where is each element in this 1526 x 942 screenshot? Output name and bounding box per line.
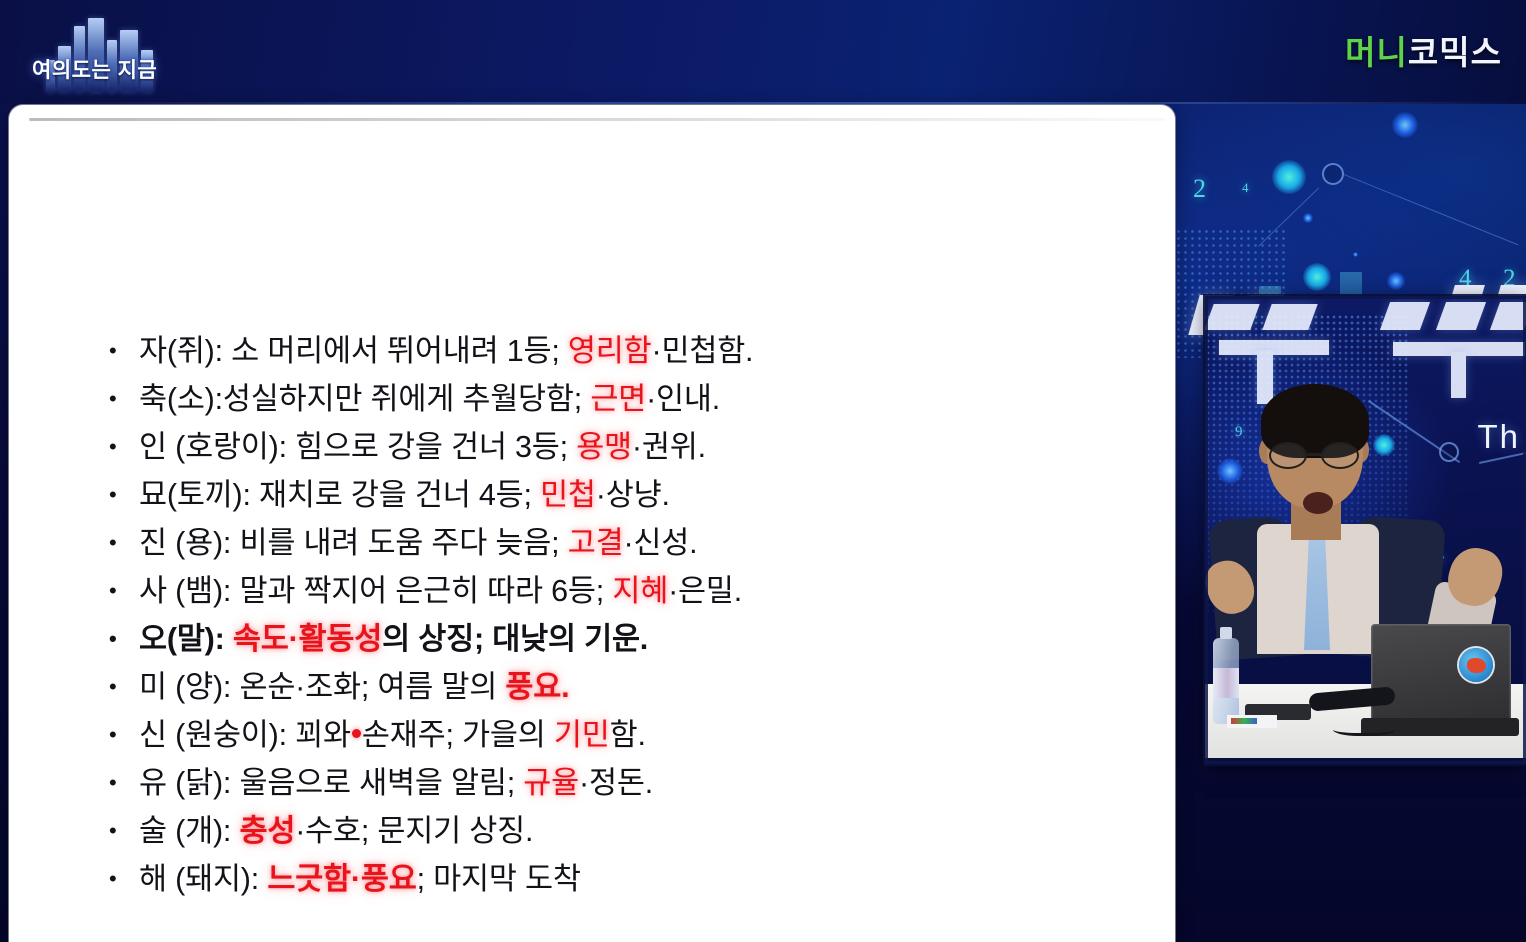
- bullet-marker: •: [109, 711, 139, 759]
- red-dot-icon: [352, 729, 361, 738]
- bullet-marker: •: [109, 519, 139, 567]
- text-run: ·신성.: [623, 526, 697, 560]
- bullet-text: 축(소):성실하지만 쥐에게 추월당함; 근면·인내.: [139, 375, 720, 423]
- highlighted-term: 기민: [554, 718, 610, 752]
- backdrop-glow-dot-icon: [1217, 458, 1243, 484]
- header-bar: [0, 0, 1526, 104]
- bullet-text: 오(말): 속도·활동성의 상징; 대낮의 기운.: [139, 615, 648, 663]
- highlighted-term: 지혜: [612, 574, 668, 608]
- text-run: 의 상징; 대낮의 기운.: [382, 622, 648, 656]
- bullet-text: 유 (닭): 울음으로 새벽을 알림; 규율·정돈.: [139, 759, 653, 807]
- bullet-text: 해 (돼지): 느긋함·풍요; 마지막 도착: [139, 855, 581, 903]
- text-run: ·정돈.: [579, 766, 653, 800]
- text-run: ·민첩함.: [652, 334, 754, 368]
- highlighted-term: 느긋함·풍요: [267, 862, 416, 896]
- bullet-marker: •: [109, 807, 139, 855]
- slide-top-divider: [29, 118, 1165, 121]
- text-run: 인 (호랑이): 힘으로 강을 건너 3등;: [139, 430, 576, 464]
- highlighted-term: 영리함: [568, 334, 652, 368]
- highlighted-term: 충성: [239, 814, 295, 848]
- mouth: [1303, 492, 1333, 514]
- line-in-tiger: •인 (호랑이): 힘으로 강을 건너 3등; 용맹·권위.: [109, 423, 1145, 471]
- line-sul-dog: •술 (개): 충성·수호; 문지기 상징.: [109, 807, 1145, 855]
- backdrop-node-ring-icon: [1439, 442, 1459, 462]
- channel-logo-green: 머니: [1345, 34, 1408, 71]
- line-sa-snake: •사 (뱀): 말과 짝지어 은근히 따라 6등; 지혜·은밀.: [109, 567, 1145, 615]
- text-run: 묘(토끼): 재치로 강을 건너 4등;: [139, 478, 540, 512]
- text-run: ·인내.: [646, 382, 720, 416]
- bullet-text: 인 (호랑이): 힘으로 강을 건너 3등; 용맹·권위.: [139, 423, 706, 471]
- text-run: ; 마지막 도착: [417, 862, 581, 896]
- bullet-text: 사 (뱀): 말과 짝지어 은근히 따라 6등; 지혜·은밀.: [139, 567, 742, 615]
- cable: [1333, 720, 1395, 736]
- program-logo: 여의도는 지금: [28, 14, 178, 98]
- bullet-text: 진 (용): 비를 내려 도움 주다 늦음; 고결·신성.: [139, 519, 697, 567]
- text-run: ·권위.: [632, 430, 706, 464]
- line-o-horse: •오(말): 속도·활동성의 상징; 대낮의 기운.: [109, 615, 1145, 663]
- highlighted-term: 근면: [590, 382, 646, 416]
- bullet-marker: •: [109, 615, 139, 663]
- text-run: 술 (개):: [139, 814, 239, 848]
- bullet-marker: •: [109, 423, 139, 471]
- text-run: 신 (원숭이): 꾀와: [139, 718, 351, 752]
- backdrop-korean-title: [1205, 296, 1526, 416]
- text-run: ·상냥.: [596, 478, 670, 512]
- text-run: 진 (용): 비를 내려 도움 주다 늦음;: [139, 526, 568, 560]
- text-run: 함.: [610, 718, 646, 752]
- line-hae-pig: •해 (돼지): 느긋함·풍요; 마지막 도착: [109, 855, 1145, 903]
- line-ja-rat: •자(쥐): 소 머리에서 뛰어내려 1등; 영리함·민첩함.: [109, 327, 1145, 375]
- highlighted-term: 속도·활동성: [233, 622, 382, 656]
- eyeglasses-icon: [1269, 442, 1363, 469]
- bullet-text: 자(쥐): 소 머리에서 뛰어내려 1등; 영리함·민첩함.: [139, 327, 753, 375]
- slide-bullet-list: •자(쥐): 소 머리에서 뛰어내려 1등; 영리함·민첩함.•축(소):성실하…: [109, 327, 1145, 903]
- bullet-marker: •: [109, 759, 139, 807]
- backdrop-th-text: Th: [1477, 418, 1520, 456]
- text-run: 축(소):성실하지만 쥐에게 추월당함;: [139, 382, 590, 416]
- text-run: 유 (닭): 울음으로 새벽을 알림;: [139, 766, 523, 800]
- highlighted-term: 풍요.: [505, 670, 569, 704]
- text-run: 사 (뱀): 말과 짝지어 은근히 따라 6등;: [139, 574, 612, 608]
- backdrop-glow-dot-icon: [1373, 434, 1395, 456]
- backdrop-number: 9: [1235, 424, 1243, 441]
- text-run: ·은밀.: [668, 574, 742, 608]
- bullet-marker: •: [109, 471, 139, 519]
- bullet-text: 미 (양): 온순·조화; 여름 말의 풍요.: [139, 663, 569, 711]
- line-myo-rabbit: •묘(토끼): 재치로 강을 건너 4등; 민첩·상냥.: [109, 471, 1145, 519]
- line-mi-sheep: •미 (양): 온순·조화; 여름 말의 풍요.: [109, 663, 1145, 711]
- channel-logo-white: 코믹스: [1408, 34, 1502, 71]
- bullet-marker: •: [109, 567, 139, 615]
- laptop-sticker-icon: [1459, 648, 1493, 682]
- text-run: 손재주; 가을의: [362, 718, 554, 752]
- bullet-text: 술 (개): 충성·수호; 문지기 상징.: [139, 807, 533, 855]
- line-chuk-ox: •축(소):성실하지만 쥐에게 추월당함; 근면·인내.: [109, 375, 1145, 423]
- text-run: 자(쥐): 소 머리에서 뛰어내려 1등;: [139, 334, 568, 368]
- bottle-label: [1213, 668, 1239, 698]
- channel-logo: 머니코믹스: [1345, 26, 1502, 74]
- text-run: ·수호; 문지기 상징.: [295, 814, 533, 848]
- text-run: 해 (돼지):: [139, 862, 267, 896]
- highlighted-term: 고결: [568, 526, 624, 560]
- text-run: 오(말):: [139, 622, 233, 656]
- program-logo-text: 여의도는 지금: [32, 54, 182, 84]
- line-yu-rooster: •유 (닭): 울음으로 새벽을 알림; 규율·정돈.: [109, 759, 1145, 807]
- highlighted-term: 용맹: [576, 430, 632, 464]
- line-sin-monkey: •신 (원숭이): 꾀와손재주; 가을의 기민함.: [109, 711, 1145, 759]
- studio-camera-feed[interactable]: Th 9 7: [1205, 296, 1526, 764]
- papers: [1227, 715, 1277, 728]
- bullet-marker: •: [109, 663, 139, 711]
- bullet-marker: •: [109, 375, 139, 423]
- bullet-marker: •: [109, 855, 139, 903]
- highlighted-term: 민첩: [540, 478, 596, 512]
- water-bottle: [1213, 638, 1239, 724]
- bullet-text: 묘(토끼): 재치로 강을 건너 4등; 민첩·상냥.: [139, 471, 670, 519]
- highlighted-term: 규율: [523, 766, 579, 800]
- text-run: 미 (양): 온순·조화; 여름 말의: [139, 670, 505, 704]
- bullet-text: 신 (원숭이): 꾀와손재주; 가을의 기민함.: [139, 711, 646, 759]
- bullet-marker: •: [109, 327, 139, 375]
- line-jin-dragon: •진 (용): 비를 내려 도움 주다 늦음; 고결·신성.: [109, 519, 1145, 567]
- presentation-slide: •자(쥐): 소 머리에서 뛰어내려 1등; 영리함·민첩함.•축(소):성실하…: [9, 105, 1175, 942]
